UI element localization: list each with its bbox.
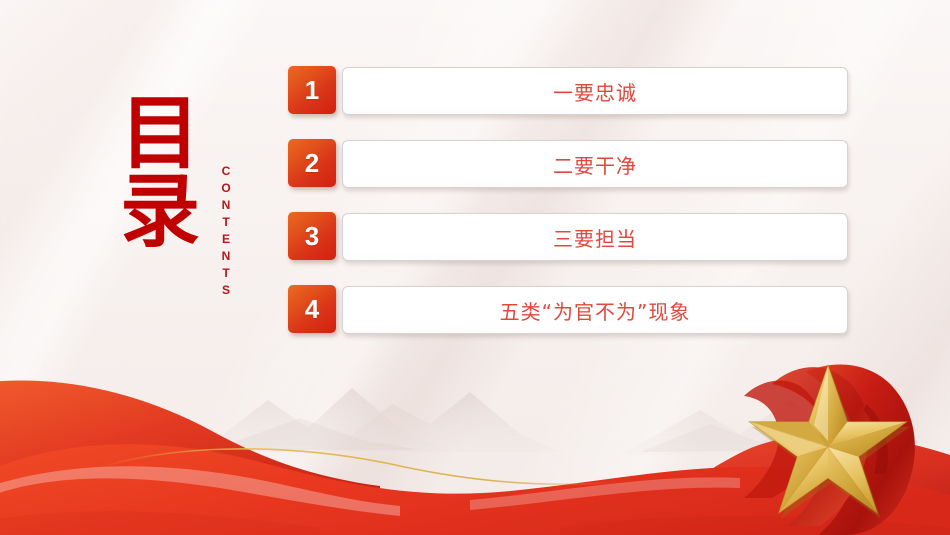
item-number-badge-1: 1 [288,66,336,114]
red-ribbon [744,364,915,535]
list-item[interactable]: 2 二要干净 [288,139,848,187]
title-en-letter-2: O [213,180,239,197]
item-number-badge-3: 3 [288,212,336,260]
red-wave-right [600,434,950,535]
title-en-vertical: C O N T E N T S [213,163,239,299]
list-item[interactable]: 4 五类“为官不为”现象 [288,285,848,333]
item-label-1: 一要忠诚 [553,77,637,106]
title-cn: 目 录 [110,95,210,252]
page-title: 目 录 C O N T E N T S [100,95,250,345]
item-bar-1[interactable]: 一要忠诚 [342,67,848,115]
title-en-letter-8: S [213,282,239,299]
slide-root: 目 录 C O N T E N T S 1 一要忠诚 2 二要干净 [0,0,950,535]
red-wave-left [0,380,380,535]
red-wave-foreground [0,444,950,535]
item-label-3: 三要担当 [553,223,637,252]
item-label-4: 五类“为官不为”现象 [500,296,691,325]
item-label-2: 二要干净 [553,150,637,179]
title-cn-line-1: 目 [110,95,210,173]
gold-star [749,365,910,518]
list-item[interactable]: 3 三要担当 [288,212,848,260]
list-item[interactable]: 1 一要忠诚 [288,66,848,114]
title-en-letter-3: N [213,197,239,214]
item-bar-2[interactable]: 二要干净 [342,140,848,188]
item-bar-3[interactable]: 三要担当 [342,213,848,261]
silk-sheen-folds [0,466,950,535]
title-en-letter-1: C [213,163,239,180]
mountains-silhouette [200,388,900,455]
item-bar-4[interactable]: 五类“为官不为”现象 [342,286,848,334]
title-en-letter-7: T [213,265,239,282]
title-en-letter-6: N [213,248,239,265]
title-cn-line-2: 录 [110,173,210,251]
title-en-letter-5: E [213,231,239,248]
gold-accent-line [92,449,620,484]
item-number-badge-2: 2 [288,139,336,187]
contents-list: 1 一要忠诚 2 二要干净 3 三要担当 4 五类“为官不为”现象 [288,66,848,358]
title-en-letter-4: T [213,214,239,231]
item-number-badge-4: 4 [288,285,336,333]
